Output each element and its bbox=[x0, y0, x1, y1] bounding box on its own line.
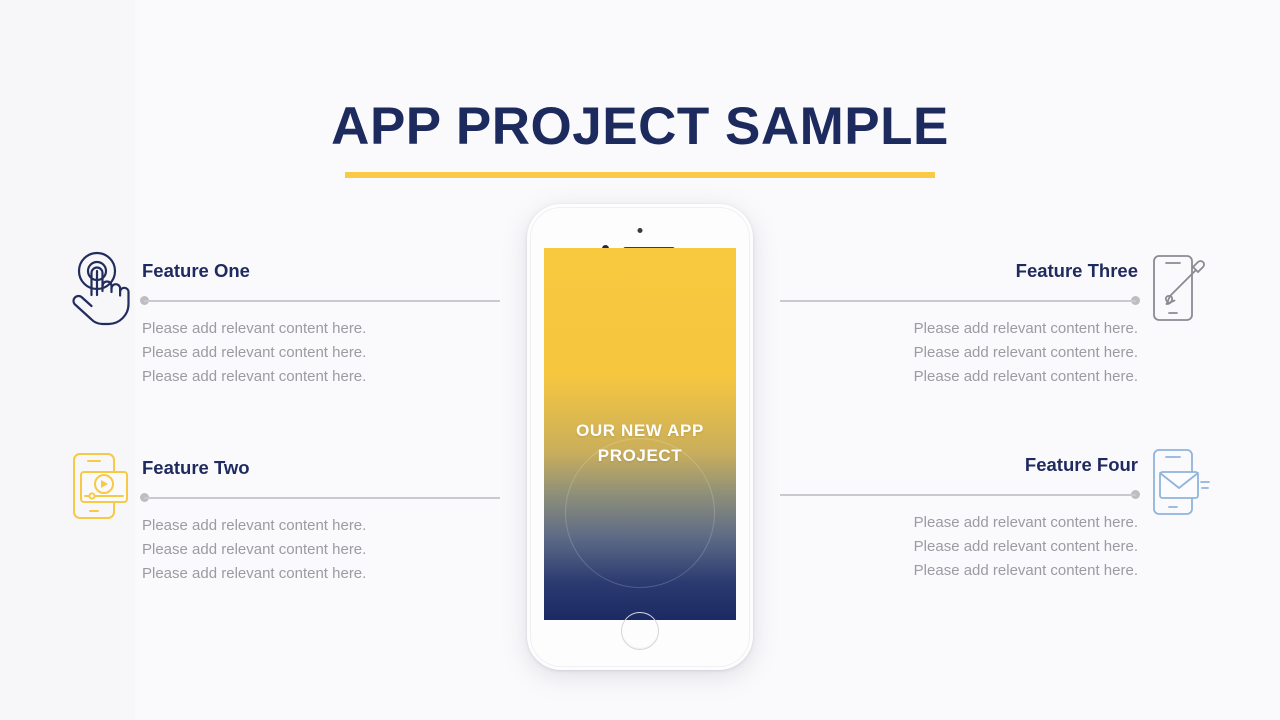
feature-heading-row: Feature Three bbox=[780, 258, 1210, 288]
title-underline-rule bbox=[345, 172, 935, 178]
feature-title: Feature One bbox=[70, 258, 500, 284]
feature-body: Please add relevant content here. Please… bbox=[780, 317, 1210, 388]
feature-body-line: Please add relevant content here. bbox=[142, 317, 500, 341]
feature-heading-row: Feature One bbox=[70, 258, 500, 288]
feature-title: Feature Two bbox=[70, 455, 500, 481]
phone-screen[interactable]: OUR NEW APP PROJECT bbox=[544, 248, 736, 620]
feature-body-line: Please add relevant content here. bbox=[780, 341, 1138, 365]
feature-connector-line bbox=[70, 493, 500, 502]
feature-body-line: Please add relevant content here. bbox=[780, 535, 1138, 559]
feature-block-four[interactable]: Feature Four Please add relevant content… bbox=[780, 452, 1210, 582]
feature-body-line: Please add relevant content here. bbox=[780, 317, 1138, 341]
feature-body-line: Please add relevant content here. bbox=[142, 538, 500, 562]
feature-body: Please add relevant content here. Please… bbox=[70, 514, 500, 585]
connector-rule bbox=[144, 497, 500, 499]
title-block: APP PROJECT SAMPLE bbox=[0, 96, 1280, 178]
feature-body: Please add relevant content here. Please… bbox=[70, 317, 500, 388]
feature-body-line: Please add relevant content here. bbox=[780, 511, 1138, 535]
feature-connector-line bbox=[70, 296, 500, 305]
feature-body-line: Please add relevant content here. bbox=[142, 341, 500, 365]
feature-block-three[interactable]: Feature Three Please add relevant conten… bbox=[780, 258, 1210, 388]
feature-block-one[interactable]: Feature One Please add relevant content … bbox=[70, 258, 500, 388]
screen-app-title-line2: PROJECT bbox=[544, 443, 736, 468]
feature-body-line: Please add relevant content here. bbox=[780, 559, 1138, 583]
feature-heading-row: Feature Four bbox=[780, 452, 1210, 482]
feature-connector-line bbox=[780, 490, 1210, 499]
phone-home-button[interactable] bbox=[621, 612, 659, 650]
feature-body: Please add relevant content here. Please… bbox=[780, 511, 1210, 582]
connector-rule bbox=[780, 494, 1136, 496]
connector-rule bbox=[780, 300, 1136, 302]
screen-app-title: OUR NEW APP PROJECT bbox=[544, 418, 736, 468]
feature-body-line: Please add relevant content here. bbox=[142, 562, 500, 586]
page-title: APP PROJECT SAMPLE bbox=[0, 96, 1280, 158]
feature-block-two[interactable]: Feature Two Please add relevant content … bbox=[70, 455, 500, 585]
feature-body-line: Please add relevant content here. bbox=[142, 514, 500, 538]
feature-body-line: Please add relevant content here. bbox=[780, 365, 1138, 389]
feature-title: Feature Three bbox=[780, 258, 1210, 284]
feature-connector-line bbox=[780, 296, 1210, 305]
slide-canvas: APP PROJECT SAMPLE Feature One bbox=[0, 0, 1280, 720]
screen-app-title-line1: OUR NEW APP bbox=[544, 418, 736, 443]
feature-heading-row: Feature Two bbox=[70, 455, 500, 485]
connector-rule bbox=[144, 300, 500, 302]
feature-title: Feature Four bbox=[780, 452, 1210, 478]
feature-body-line: Please add relevant content here. bbox=[142, 365, 500, 389]
phone-camera-icon bbox=[638, 228, 643, 233]
phone-mockup: OUR NEW APP PROJECT bbox=[527, 204, 753, 670]
